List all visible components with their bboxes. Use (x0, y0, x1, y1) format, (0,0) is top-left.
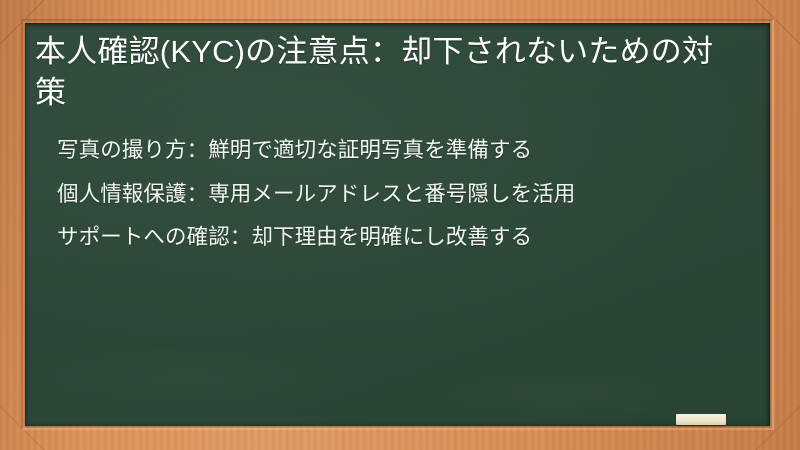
slide-title: 本人確認(KYC)の注意点：却下されないための対策 (35, 32, 735, 113)
key-point-item: 写真の撮り方：鮮明で適切な証明写真を準備する (57, 135, 737, 166)
chalkboard-surface: 本人確認(KYC)の注意点：却下されないための対策 写真の撮り方：鮮明で適切な証… (25, 23, 770, 426)
key-point-item: 個人情報保護：専用メールアドレスと番号隠しを活用 (57, 179, 737, 210)
chalk-piece-icon (676, 414, 726, 425)
key-points-list: 写真の撮り方：鮮明で適切な証明写真を準備する 個人情報保護：専用メールアドレスと… (57, 135, 748, 253)
board-content: 本人確認(KYC)の注意点：却下されないための対策 写真の撮り方：鮮明で適切な証… (25, 23, 770, 253)
key-point-item: サポートへの確認：却下理由を明確にし改善する (57, 222, 737, 253)
chalkboard-slide: 本人確認(KYC)の注意点：却下されないための対策 写真の撮り方：鮮明で適切な証… (0, 0, 800, 450)
